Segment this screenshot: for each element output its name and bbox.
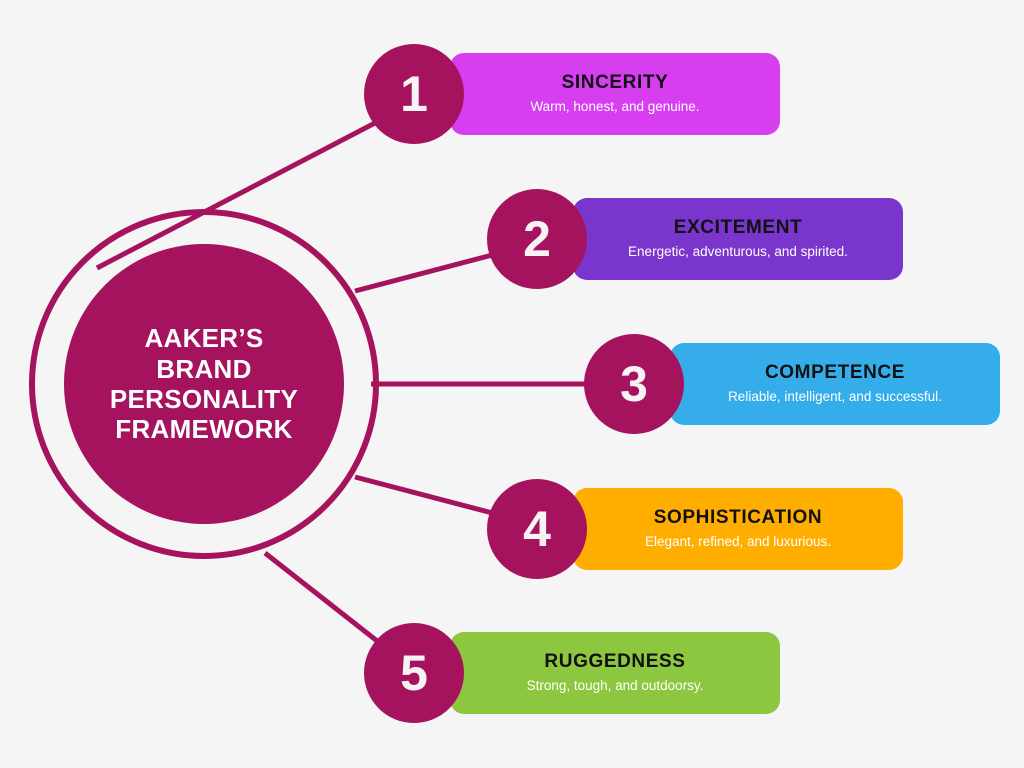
central-hub: AAKER’S BRAND PERSONALITY FRAMEWORK xyxy=(29,209,379,559)
dimension-bar-2[interactable]: EXCITEMENT Energetic, adventurous, and s… xyxy=(573,198,903,280)
step-number-3: 3 xyxy=(620,359,648,409)
step-number-badge-2[interactable]: 2 xyxy=(487,189,587,289)
dimension-subtitle-1: Warm, honest, and genuine. xyxy=(530,99,699,115)
dimension-bar-4[interactable]: SOPHISTICATION Elegant, refined, and lux… xyxy=(573,488,903,570)
dimension-title-3: COMPETENCE xyxy=(728,362,942,384)
hub-title: AAKER’S BRAND PERSONALITY FRAMEWORK xyxy=(102,323,306,445)
step-number-1: 1 xyxy=(400,69,428,119)
step-number-4: 4 xyxy=(523,504,551,554)
dimension-title-4: SOPHISTICATION xyxy=(645,507,831,529)
step-number-badge-4[interactable]: 4 xyxy=(487,479,587,579)
dimension-subtitle-5: Strong, tough, and outdoorsy. xyxy=(527,678,704,694)
step-number-badge-1[interactable]: 1 xyxy=(364,44,464,144)
dimension-title-1: SINCERITY xyxy=(530,72,699,94)
step-number-2: 2 xyxy=(523,214,551,264)
dimension-text-5: RUGGEDNESS Strong, tough, and outdoorsy. xyxy=(527,651,704,694)
dimension-title-5: RUGGEDNESS xyxy=(527,651,704,673)
framework-row-5: RUGGEDNESS Strong, tough, and outdoorsy.… xyxy=(364,623,784,723)
hub-inner-circle: AAKER’S BRAND PERSONALITY FRAMEWORK xyxy=(64,244,344,524)
dimension-subtitle-4: Elegant, refined, and luxurious. xyxy=(645,534,831,550)
dimension-bar-3[interactable]: COMPETENCE Reliable, intelligent, and su… xyxy=(670,343,1000,425)
dimension-bar-1[interactable]: SINCERITY Warm, honest, and genuine. xyxy=(450,53,780,135)
dimension-text-4: SOPHISTICATION Elegant, refined, and lux… xyxy=(645,507,831,550)
dimension-title-2: EXCITEMENT xyxy=(628,217,848,239)
infographic-canvas: AAKER’S BRAND PERSONALITY FRAMEWORK SINC… xyxy=(0,0,1024,768)
framework-row-2: EXCITEMENT Energetic, adventurous, and s… xyxy=(487,189,907,289)
dimension-subtitle-2: Energetic, adventurous, and spirited. xyxy=(628,244,848,260)
step-number-badge-5[interactable]: 5 xyxy=(364,623,464,723)
dimension-text-2: EXCITEMENT Energetic, adventurous, and s… xyxy=(628,217,848,260)
step-number-badge-3[interactable]: 3 xyxy=(584,334,684,434)
dimension-text-3: COMPETENCE Reliable, intelligent, and su… xyxy=(728,362,942,405)
step-number-5: 5 xyxy=(400,648,428,698)
dimension-text-1: SINCERITY Warm, honest, and genuine. xyxy=(530,72,699,115)
framework-row-4: SOPHISTICATION Elegant, refined, and lux… xyxy=(487,479,907,579)
dimension-bar-5[interactable]: RUGGEDNESS Strong, tough, and outdoorsy. xyxy=(450,632,780,714)
framework-row-1: SINCERITY Warm, honest, and genuine. 1 xyxy=(364,44,784,144)
framework-row-3: COMPETENCE Reliable, intelligent, and su… xyxy=(584,334,1004,434)
dimension-subtitle-3: Reliable, intelligent, and successful. xyxy=(728,389,942,405)
